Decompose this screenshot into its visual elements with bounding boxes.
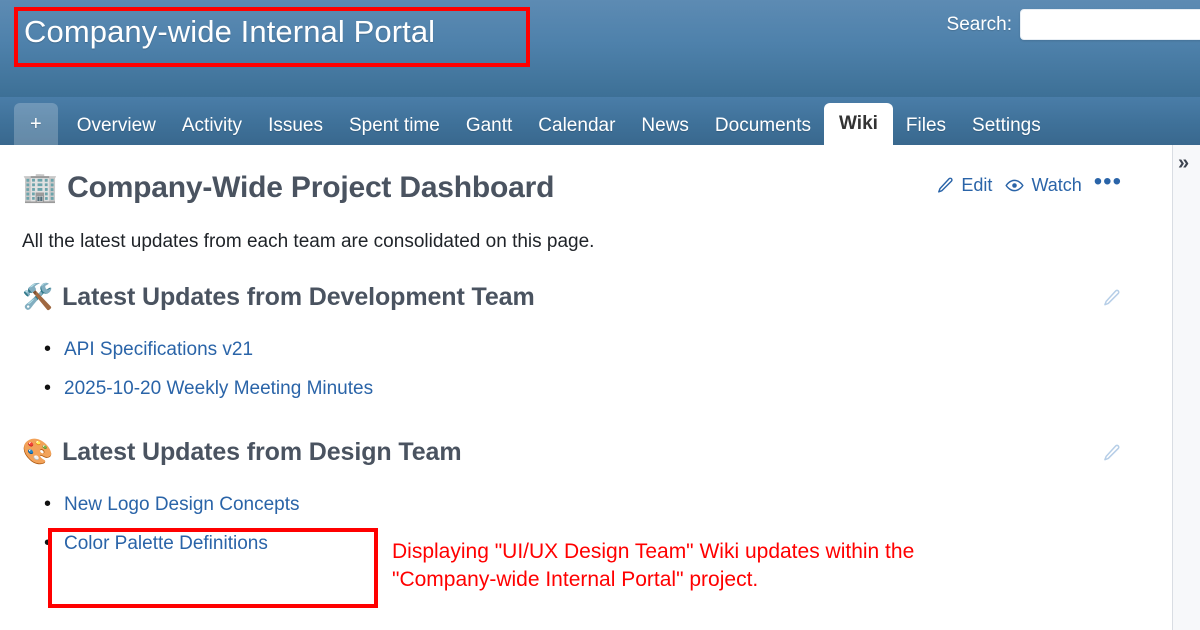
sidebar-expand-icon[interactable]: »	[1178, 153, 1189, 173]
wiki-page-title: Company-Wide Project Dashboard	[67, 171, 554, 205]
list-item: API Specifications v21	[64, 330, 1144, 369]
pencil-icon	[936, 176, 955, 195]
edit-button[interactable]: Edit	[936, 175, 992, 196]
search-area: Search:	[947, 9, 1200, 40]
section-title: Latest Updates from Design Team	[62, 438, 461, 467]
top-header: Company-wide Internal Portal Search:	[0, 0, 1200, 97]
wiki-link[interactable]: New Logo Design Concepts	[64, 494, 300, 515]
edit-label: Edit	[961, 175, 992, 196]
section-heading: 🎨 Latest Updates from Design Team	[22, 438, 1144, 467]
palette-icon: 🎨	[22, 440, 53, 465]
section-development-team: 🛠️ Latest Updates from Development Team …	[22, 283, 1144, 408]
annotation-line-1: Displaying "UI/UX Design Team" Wiki upda…	[392, 538, 1152, 566]
tab-gantt[interactable]: Gantt	[453, 107, 525, 145]
wiki-link[interactable]: Color Palette Definitions	[64, 533, 268, 554]
building-icon: 🏢	[22, 174, 58, 203]
project-tab-bar: + Overview Activity Issues Spent time Ga…	[0, 97, 1200, 145]
watch-label: Watch	[1031, 175, 1081, 196]
tab-files[interactable]: Files	[893, 107, 959, 145]
sidebar-collapsed-strip: »	[1172, 145, 1200, 630]
tab-documents[interactable]: Documents	[702, 107, 824, 145]
search-input[interactable]	[1020, 9, 1200, 40]
tab-settings[interactable]: Settings	[959, 107, 1054, 145]
tools-icon: 🛠️	[22, 285, 53, 310]
section-heading: 🛠️ Latest Updates from Development Team	[22, 283, 1144, 312]
tab-overview[interactable]: Overview	[64, 107, 169, 145]
watch-button[interactable]: Watch	[1004, 175, 1081, 196]
tab-news[interactable]: News	[628, 107, 702, 145]
more-actions-button[interactable]: •••	[1094, 177, 1122, 195]
intro-text: All the latest updates from each team ar…	[22, 231, 1144, 253]
search-label: Search:	[947, 14, 1012, 36]
wiki-link[interactable]: 2025-10-20 Weekly Meeting Minutes	[64, 378, 373, 399]
app-root: Company-wide Internal Portal Search: + O…	[0, 0, 1200, 630]
page-title: Company-wide Internal Portal	[24, 14, 435, 50]
wiki-page-actions: Edit Watch •••	[936, 175, 1122, 196]
tab-issues[interactable]: Issues	[255, 107, 336, 145]
tab-spent-time[interactable]: Spent time	[336, 107, 453, 145]
wiki-link[interactable]: API Specifications v21	[64, 339, 253, 360]
tab-add-new[interactable]: +	[14, 103, 58, 145]
eye-icon	[1004, 176, 1025, 195]
annotation-line-2: "Company-wide Internal Portal" project.	[392, 566, 1152, 594]
wiki-page-header: 🏢 Company-Wide Project Dashboard Edit	[22, 167, 1144, 209]
section-title: Latest Updates from Development Team	[62, 283, 534, 312]
annotation-text: Displaying "UI/UX Design Team" Wiki upda…	[392, 538, 1152, 594]
list-item: New Logo Design Concepts	[64, 485, 1144, 524]
section-edit-icon[interactable]	[1102, 443, 1122, 468]
tab-calendar[interactable]: Calendar	[525, 107, 628, 145]
wiki-link-list: API Specifications v21 2025-10-20 Weekly…	[22, 330, 1144, 408]
section-edit-icon[interactable]	[1102, 288, 1122, 313]
tab-wiki[interactable]: Wiki	[824, 103, 893, 145]
list-item: 2025-10-20 Weekly Meeting Minutes	[64, 369, 1144, 408]
tab-activity[interactable]: Activity	[169, 107, 255, 145]
